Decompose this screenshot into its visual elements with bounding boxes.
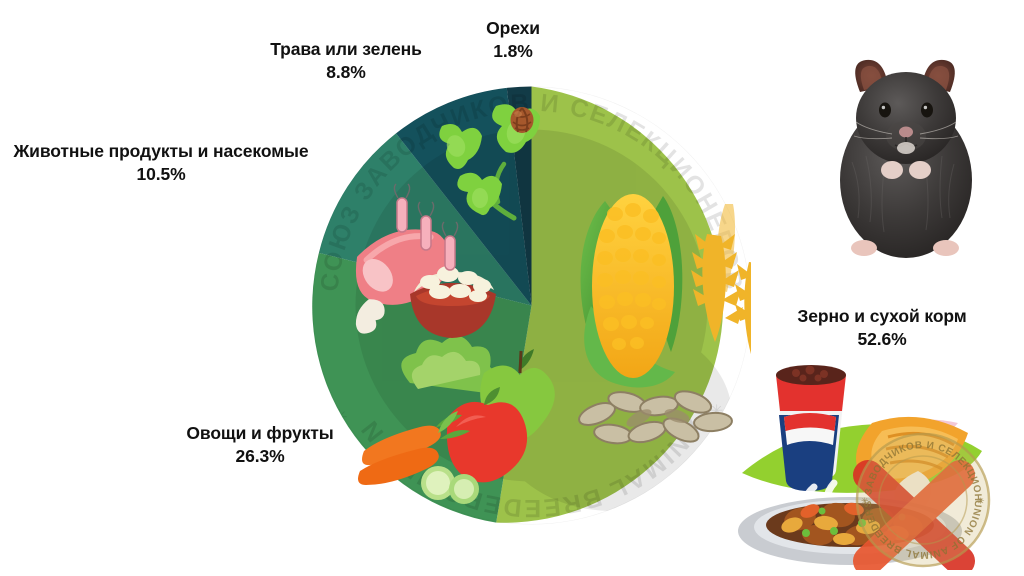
hamster-nose: [899, 127, 913, 138]
stamp-star-left: ✳: [861, 496, 869, 506]
pie-label-vegetables-percent: 26.3%: [138, 445, 382, 468]
pie-label-animal-percent: 10.5%: [2, 163, 320, 186]
pie-label-grass-name: Трава или зелень: [270, 39, 422, 59]
pie-label-grain-name: Зерно и сухой корм: [797, 306, 966, 326]
union-stamp-watermark: СОЮЗ ЗАВОДЧИКОВ И СЕЛЕКЦИОНЕРОВ UNION OF…: [855, 432, 991, 568]
pie-label-grass: Трава или зелень 8.8%: [258, 38, 434, 84]
pie-label-vegetables-name: Овощи и фрукты: [186, 423, 333, 443]
hamster-paw-left: [881, 161, 903, 179]
pie-label-nuts-percent: 1.8%: [455, 40, 571, 63]
hamster-foot-left: [851, 240, 877, 256]
stamp-star-right: ✳: [977, 496, 985, 506]
walnut-icon: [511, 107, 534, 133]
pie-label-grass-percent: 8.8%: [258, 61, 434, 84]
pie-label-animal-name: Животные продукты и насекомые: [13, 141, 308, 161]
pie-label-nuts: Орехи 1.8%: [455, 17, 571, 63]
hamster-eye-left: [879, 103, 891, 118]
pie-label-vegetables: Овощи и фрукты 26.3%: [138, 422, 382, 468]
hamster-paw-right: [909, 161, 931, 179]
pie-label-nuts-name: Орехи: [486, 18, 540, 38]
hamster-eye-right: [921, 103, 933, 118]
hamster-foot-right: [933, 240, 959, 256]
soda-cup-icon: [776, 365, 846, 491]
infographic-canvas: СОЮЗ ЗАВОДЧИКОВ И СЕЛЕКЦИОНЕРОВ ANIMAL B…: [0, 0, 1024, 576]
hamster-photo: [826, 52, 986, 267]
pie-label-animal: Животные продукты и насекомые 10.5%: [2, 140, 320, 186]
